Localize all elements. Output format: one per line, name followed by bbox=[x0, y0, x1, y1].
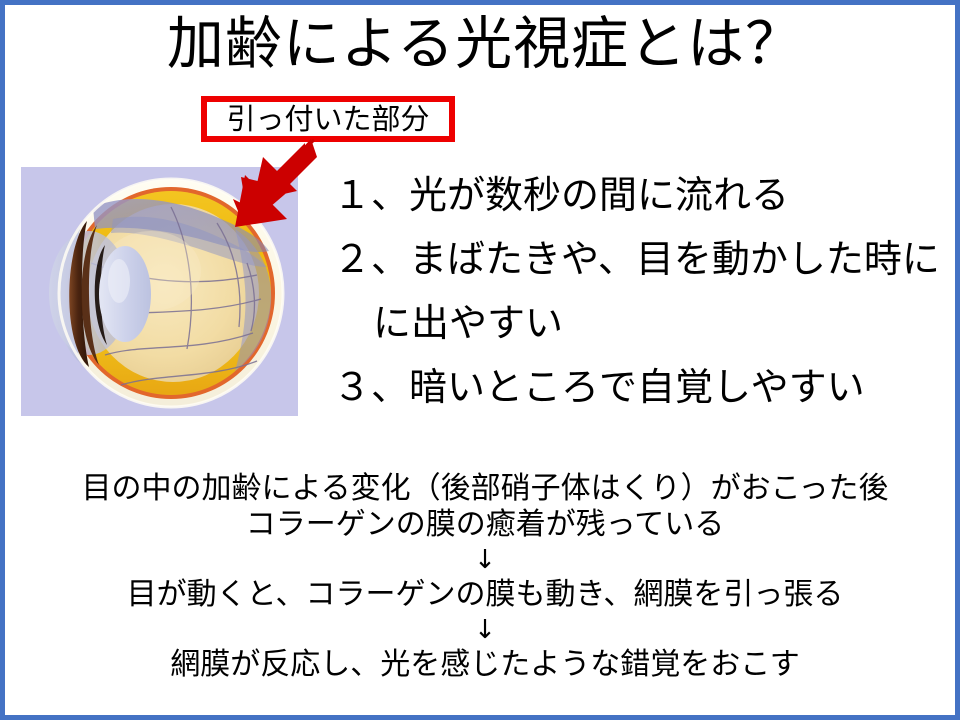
symptom-item: ３、暗いところで自覚しやすい bbox=[333, 355, 953, 419]
explanation-flow: 目の中の加齢による変化（後部硝子体はくり）がおこった後 コラーゲンの膜の癒着が残… bbox=[10, 471, 960, 683]
callout-box: 引っ付いた部分 bbox=[201, 96, 455, 142]
slide-canvas: 加齢による光視症とは？ bbox=[0, 0, 960, 720]
page-title: 加齢による光視症とは？ bbox=[5, 9, 960, 79]
flow-text: 網膜が反応し、光を感じたような錯覚をおこす bbox=[10, 647, 960, 683]
flow-text: コラーゲンの膜の癒着が残っている bbox=[10, 507, 960, 543]
callout-label: 引っ付いた部分 bbox=[226, 103, 429, 135]
symptom-item: ２、まばたきや、目を動かした時に bbox=[333, 227, 953, 291]
lens-highlight bbox=[108, 259, 130, 303]
symptom-item-continuation: に出やすい bbox=[333, 291, 953, 355]
flow-text: 目の中の加齢による変化（後部硝子体はくり）がおこった後 bbox=[10, 471, 960, 507]
flow-down-arrow-icon: ↓ bbox=[10, 613, 960, 647]
red-arrow-icon bbox=[219, 137, 319, 233]
flow-text: 目が動くと、コラーゲンの膜も動き、網膜を引っ張る bbox=[10, 577, 960, 613]
symptom-list: １、光が数秒の間に流れる ２、まばたきや、目を動かした時に に出やすい ３、暗い… bbox=[333, 163, 953, 419]
flow-down-arrow-icon: ↓ bbox=[10, 543, 960, 577]
symptom-item: １、光が数秒の間に流れる bbox=[333, 163, 953, 227]
